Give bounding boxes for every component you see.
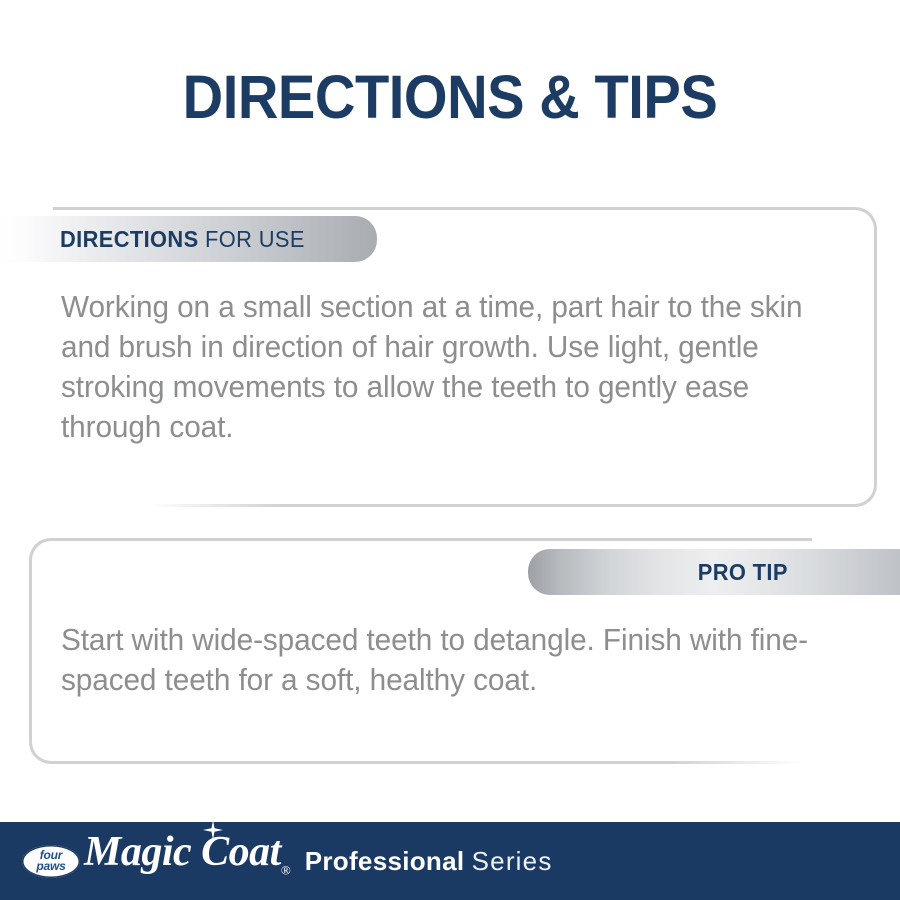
banner-pro-tip-text: PRO TIP [698,559,788,586]
footer-brand-bar: four paws Magic Coat® Professional Serie… [0,822,900,900]
banner-directions-text: DIRECTIONS FOR USE [60,226,305,253]
professional-series-tagline: Professional Series [305,846,553,876]
banner-directions-for-use: DIRECTIONS FOR USE [0,216,377,262]
page-title: DIRECTIONS & TIPS [36,62,864,132]
banner-pro-tip: PRO TIP [528,549,900,595]
banner-directions-strong: DIRECTIONS [60,226,199,252]
banner-directions-light: FOR USE [199,226,305,252]
page-root: DIRECTIONS & TIPS DIRECTIONS FOR USE Wor… [0,0,900,900]
sparkle-star-icon [203,820,223,840]
four-paws-logo-icon: four paws [22,845,80,878]
registered-trademark-icon: ® [281,862,291,877]
pro-tip-body-text: Start with wide-spaced teeth to detangle… [61,620,810,700]
tagline-series: Series [472,846,553,876]
banner-pro-tip-strong: PRO TIP [698,559,788,585]
magic-coat-text: Magic Coat [84,829,281,875]
directions-body-text: Working on a small section at a time, pa… [61,287,810,447]
four-paws-logo-line2: paws [36,861,65,872]
tagline-professional: Professional [305,846,465,876]
magic-coat-wordmark: Magic Coat® [84,829,291,893]
